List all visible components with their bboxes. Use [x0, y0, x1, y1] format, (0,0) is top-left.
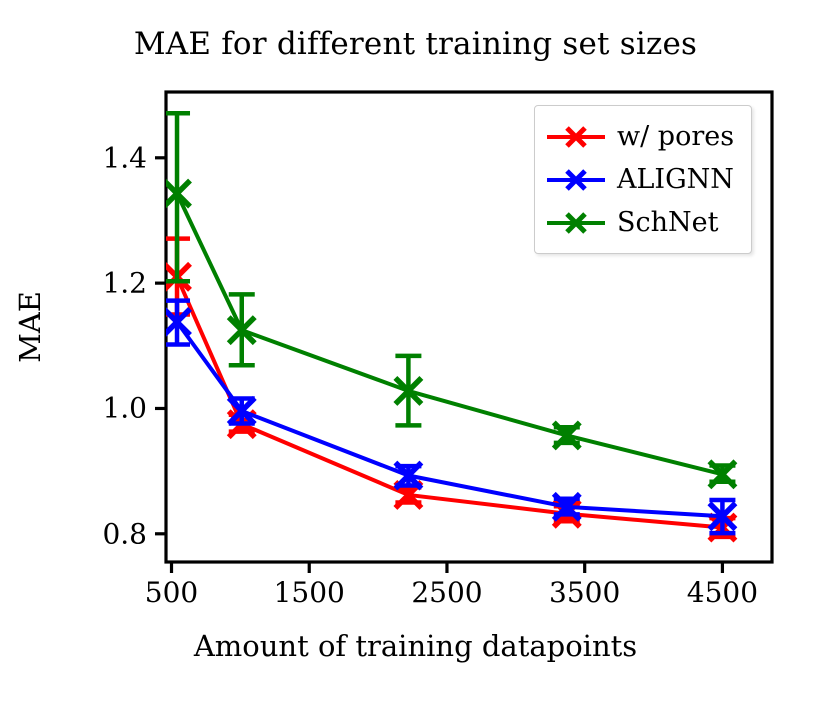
legend-item-2[interactable]: SchNet	[545, 201, 739, 244]
x-tick-label: 2500	[411, 576, 482, 609]
legend-item-1[interactable]: ALIGNN	[545, 158, 739, 201]
y-tick-label: 1.4	[40, 141, 147, 174]
y-tick-label: 0.8	[40, 517, 147, 550]
legend-label-0: w/ pores	[617, 121, 734, 152]
legend-item-0[interactable]: w/ pores	[545, 115, 739, 158]
series-line-ALIGNN	[177, 322, 722, 516]
x-axis-label: Amount of training datapoints	[0, 629, 831, 663]
x-tick-label: 500	[145, 576, 198, 609]
y-axis-label: MAE	[13, 237, 47, 417]
chart-legend: w/ pores ALIGNN SchNet	[534, 105, 752, 254]
legend-label-1: ALIGNN	[617, 164, 734, 195]
legend-swatch-line-marker	[545, 166, 607, 194]
y-tick-label: 1.2	[40, 267, 147, 300]
x-tick-label: 3500	[549, 576, 620, 609]
x-tick-label: 1500	[274, 576, 345, 609]
legend-label-2: SchNet	[617, 207, 718, 238]
legend-swatch-line-marker	[545, 209, 607, 237]
x-tick-label: 4500	[687, 576, 758, 609]
legend-swatch-line-marker	[545, 123, 607, 151]
chart-figure: MAE for different training set sizes 500…	[0, 0, 831, 711]
y-tick-label: 1.0	[40, 392, 147, 425]
